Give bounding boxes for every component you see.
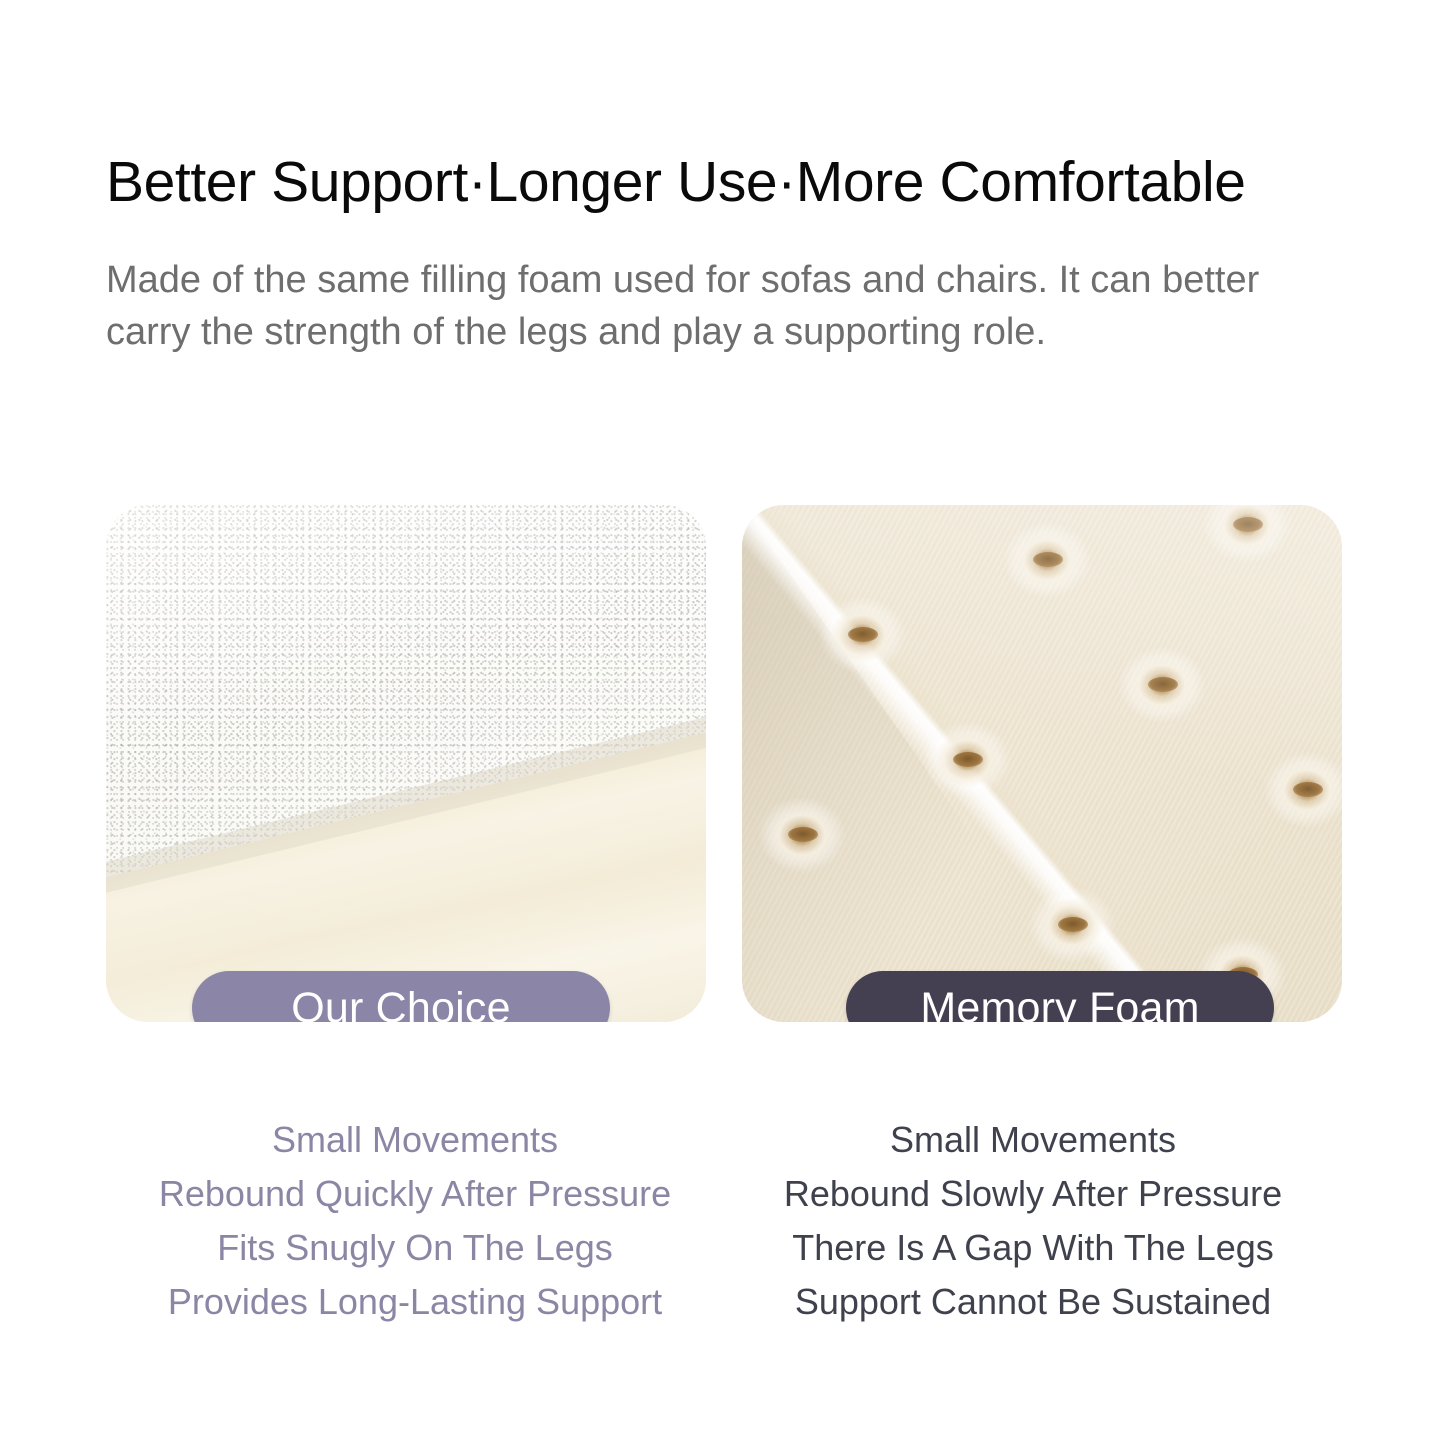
feature-item: Fits Snugly On The Legs: [106, 1221, 724, 1275]
feature-item: Rebound Quickly After Pressure: [106, 1167, 724, 1221]
header-block: Better Support·Longer Use·More Comfortab…: [106, 148, 1356, 358]
feature-item: Support Cannot Be Sustained: [724, 1275, 1342, 1329]
comparison-column-our-choice: Our Choice: [106, 505, 724, 1022]
badge-memory-foam-label: Memory Foam: [920, 984, 1199, 1023]
memory-foam-product-image: Memory Foam: [742, 505, 1342, 1022]
badge-our-choice-label: Our Choice: [291, 984, 510, 1023]
feature-list-our-choice: Small Movements Rebound Quickly After Pr…: [106, 1113, 724, 1329]
memory-foam-gloss-overlay: [742, 505, 1342, 1022]
page-title: Better Support·Longer Use·More Comfortab…: [106, 148, 1356, 216]
feature-item: Small Movements: [724, 1113, 1342, 1167]
feature-item: Provides Long-Lasting Support: [106, 1275, 724, 1329]
badge-our-choice: Our Choice: [192, 971, 610, 1022]
foam-sheen-overlay: [106, 505, 706, 1022]
feature-list-memory-foam: Small Movements Rebound Slowly After Pre…: [724, 1113, 1342, 1329]
badge-memory-foam: Memory Foam: [846, 971, 1274, 1022]
feature-item: Rebound Slowly After Pressure: [724, 1167, 1342, 1221]
feature-item: There Is A Gap With The Legs: [724, 1221, 1342, 1275]
feature-item: Small Movements: [106, 1113, 724, 1167]
comparison-column-memory-foam: Memory Foam: [724, 505, 1342, 1022]
our-choice-product-image: Our Choice: [106, 505, 706, 1022]
page-subtitle: Made of the same filling foam used for s…: [106, 254, 1354, 358]
